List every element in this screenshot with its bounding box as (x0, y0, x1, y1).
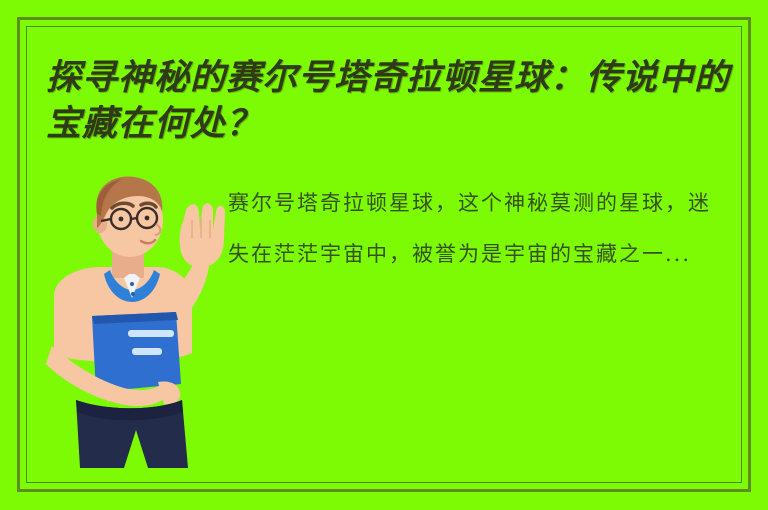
page-title: 探寻神秘的赛尔号塔奇拉顿星球：传说中的宝藏在何处？ (46, 55, 736, 147)
book-line-1 (128, 330, 174, 337)
collar-button-top (130, 282, 134, 286)
article-card: 探寻神秘的赛尔号塔奇拉顿星球：传说中的宝藏在何处？ 赛尔号塔奇拉顿星球，这个神秘… (0, 0, 768, 510)
eye-right (145, 216, 150, 221)
waving-hand (180, 203, 225, 267)
waving-man-illustration (40, 168, 230, 468)
article-excerpt: 赛尔号塔奇拉顿星球，这个神秘莫测的星球，迷失在茫茫宇宙中，被誉为是宇宙的宝藏之一… (228, 178, 728, 280)
glasses-bridge (131, 218, 137, 219)
collar-button-bottom (131, 292, 135, 296)
book-line-2 (132, 348, 162, 355)
holding-hand (158, 381, 180, 404)
eye-left (119, 217, 124, 222)
